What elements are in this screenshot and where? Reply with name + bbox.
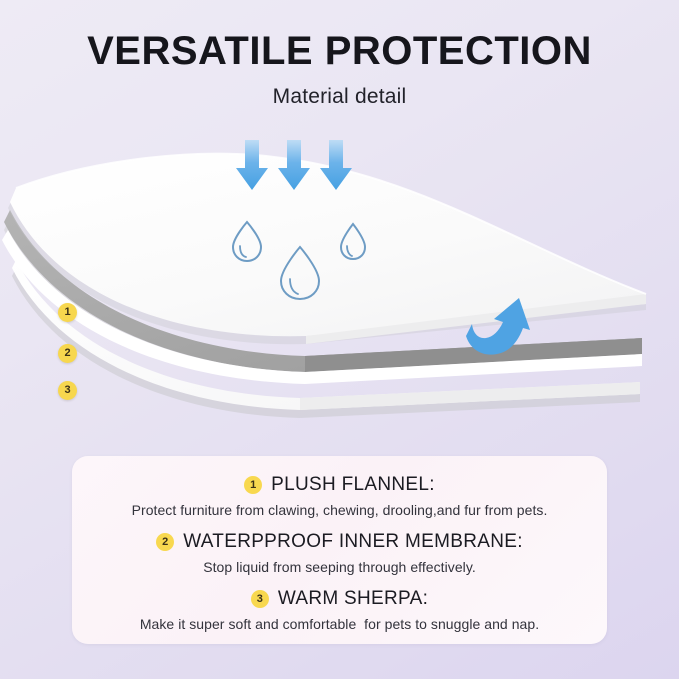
layer-badge-2: 2 [58,344,77,363]
legend-item-warm-sherpa: 3 WARM SHERPA: Make it super soft and co… [72,588,607,632]
legend-item-waterproof-membrane: 2 WATERPPROOF INNER MEMBRANE: Stop liqui… [72,531,607,575]
legend-description-3: Make it super soft and comfortable for p… [72,616,607,632]
header: VERSATILE PROTECTION Material detail [0,30,679,109]
page-subtitle: Material detail [0,85,679,109]
legend-description-2: Stop liquid from seeping through effecti… [72,559,607,575]
page-title: VERSATILE PROTECTION [0,30,679,73]
legend-badge-3: 3 [251,590,269,608]
layer-stack-graphic [0,118,679,448]
legend-title-2: WATERPPROOF INNER MEMBRANE: [183,531,523,553]
infographic-canvas: VERSATILE PROTECTION Material detail [0,0,679,679]
down-arrows-group [236,140,352,190]
legend-badge-2: 2 [156,533,174,551]
material-layers-illustration: 1 2 3 [0,118,679,448]
legend-card: 1 PLUSH FLANNEL: Protect furniture from … [72,456,607,644]
legend-title-3: WARM SHERPA: [278,588,428,610]
legend-badge-1: 1 [244,476,262,494]
legend-heading: 3 WARM SHERPA: [72,588,607,610]
legend-heading: 1 PLUSH FLANNEL: [72,474,607,496]
legend-title-1: PLUSH FLANNEL: [271,474,435,496]
legend-item-plush-flannel: 1 PLUSH FLANNEL: Protect furniture from … [72,474,607,518]
layer-badge-1: 1 [58,303,77,322]
layer-badge-3: 3 [58,381,77,400]
legend-heading: 2 WATERPPROOF INNER MEMBRANE: [72,531,607,553]
legend-description-1: Protect furniture from clawing, chewing,… [72,502,607,518]
